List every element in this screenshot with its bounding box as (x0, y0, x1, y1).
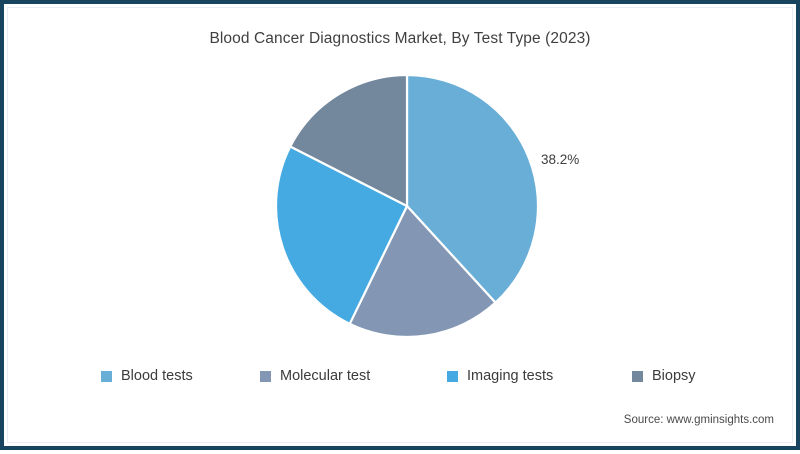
legend-swatch-icon (101, 371, 112, 382)
source-attribution: Source: www.gminsights.com (624, 414, 774, 426)
legend-item-imaging-tests[interactable]: Imaging tests (447, 362, 553, 390)
legend-label: Biopsy (652, 369, 696, 384)
legend-label: Blood tests (121, 369, 193, 384)
chart-figure: Blood Cancer Diagnostics Market, By Test… (0, 0, 800, 450)
pie-chart-svg (273, 72, 541, 340)
legend-swatch-icon (632, 371, 643, 382)
legend-swatch-icon (447, 371, 458, 382)
legend-item-biopsy[interactable]: Biopsy (632, 362, 696, 390)
pie-slice-group (276, 75, 538, 337)
legend-item-blood-tests[interactable]: Blood tests (101, 362, 193, 390)
legend-item-molecular-test[interactable]: Molecular test (260, 362, 370, 390)
legend-label: Molecular test (280, 369, 370, 384)
chart-legend: Blood tests Molecular test Imaging tests… (4, 362, 800, 390)
legend-swatch-icon (260, 371, 271, 382)
legend-label: Imaging tests (467, 369, 553, 384)
pie-data-label-blood-tests: 38.2% (541, 152, 579, 167)
